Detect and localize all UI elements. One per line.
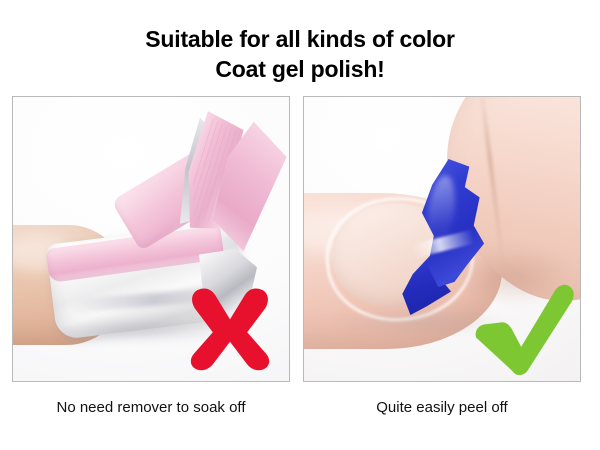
cross-mark-icon xyxy=(187,285,273,371)
check-mark-icon xyxy=(472,283,576,377)
page-title: Suitable for all kinds of color Coat gel… xyxy=(0,24,600,84)
page-title-line-2: Coat gel polish! xyxy=(0,54,600,84)
panel-captions: No need remover to soak off Quite easily… xyxy=(12,398,590,418)
page-title-line-1: Suitable for all kinds of color xyxy=(0,24,600,54)
panel-peel-off-method xyxy=(303,96,581,382)
caption-foil-wrap-method: No need remover to soak off xyxy=(12,398,290,418)
comparison-panels xyxy=(12,96,590,384)
caption-peel-off-method: Quite easily peel off xyxy=(303,398,581,418)
panel-foil-wrap-method xyxy=(12,96,290,382)
photo-foil-wrapped-finger xyxy=(13,97,289,381)
photo-peeling-gel-polish xyxy=(304,97,580,381)
product-comparison-image: Suitable for all kinds of color Coat gel… xyxy=(0,0,600,450)
